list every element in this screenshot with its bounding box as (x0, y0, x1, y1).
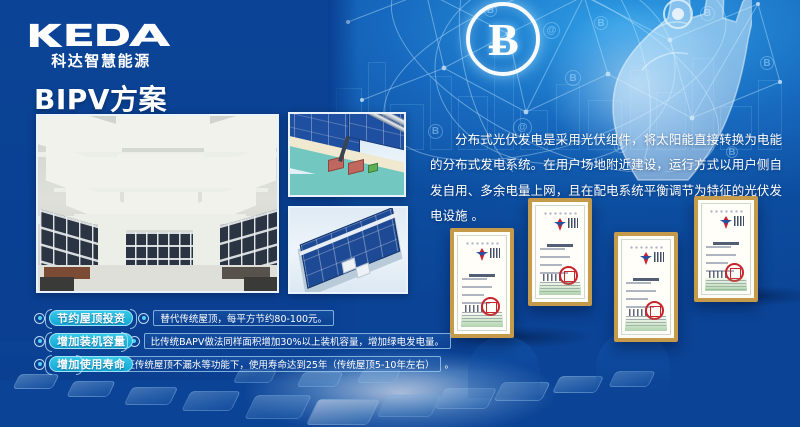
bitcoin-icon: Ƀ (466, 2, 540, 76)
benefit-tag: 增加使用寿命 (49, 356, 133, 372)
atrium-illustration (38, 116, 277, 291)
mount-illustration (290, 114, 404, 195)
page-title: BIPV方案 (34, 78, 167, 118)
benefit-tag: 增加装机容量 (49, 333, 133, 349)
cert-emblem-icon (719, 216, 733, 229)
certificate-frame (528, 198, 592, 306)
certificate-frame (694, 196, 758, 302)
pv-array-roof-render (288, 206, 408, 294)
benefit-tag-wrap: 增加使用寿命 (49, 356, 79, 372)
brand-name-cn: 科达智慧能源 (28, 50, 174, 71)
certificate-frame (450, 228, 514, 338)
bullet-ring-icon (34, 359, 45, 370)
bullet-ring-icon (138, 313, 149, 324)
cert-pedestal (468, 336, 540, 398)
benefit-row[interactable]: 增加使用寿命 在保证传统屋顶不漏水等功能下，使用寿命达到25年（传统屋顶5-10… (34, 354, 454, 374)
bitcoin-glyph: Ƀ (470, 6, 536, 72)
cert-qr-icon (490, 248, 500, 258)
cert-qr-icon (734, 216, 744, 226)
atrium-skylight-bipv-photo (36, 114, 279, 293)
bipv-poster: @ @ B B B B B B B B Ƀ (0, 0, 800, 427)
benefit-tag: 节约屋顶投资 (49, 310, 133, 326)
benefit-desc: 在保证传统屋顶不漏水等功能下，使用寿命达到25年（传统屋顶5-10年左右） (99, 356, 441, 372)
cert-qr-icon (654, 252, 664, 262)
brand-logo: 科达智慧能源 (28, 22, 174, 71)
bullet-ring-icon (34, 313, 45, 324)
array-illustration (290, 208, 406, 292)
benefit-desc: 比传统BAPV做法同样面积增加30%以上装机容量，增加绿电发电量。 (144, 333, 451, 349)
benefit-tag-wrap: 节约屋顶投资 (49, 310, 133, 326)
keda-wordmark-icon (28, 22, 172, 47)
pv-mounting-detail-render (288, 112, 406, 197)
cert-qr-icon (568, 218, 578, 228)
benefit-tail: 。 (444, 357, 454, 371)
bullet-ring-icon (34, 336, 45, 347)
benefit-row[interactable]: 节约屋顶投资 替代传统屋顶，每平方节约80-100元。 (34, 308, 454, 328)
benefit-desc: 替代传统屋顶，每平方节约80-100元。 (153, 310, 334, 326)
cert-emblem-icon (553, 218, 567, 231)
benefit-tag-wrap: 增加装机容量 (49, 333, 124, 349)
benefits-list: 节约屋顶投资 替代传统屋顶，每平方节约80-100元。 增加装机容量 比传统BA… (34, 308, 454, 377)
benefit-row[interactable]: 增加装机容量 比传统BAPV做法同样面积增加30%以上装机容量，增加绿电发电量。 (34, 331, 454, 351)
certificate-frame (614, 232, 678, 342)
cert-emblem-icon (639, 252, 653, 265)
cert-emblem-icon (475, 248, 489, 261)
